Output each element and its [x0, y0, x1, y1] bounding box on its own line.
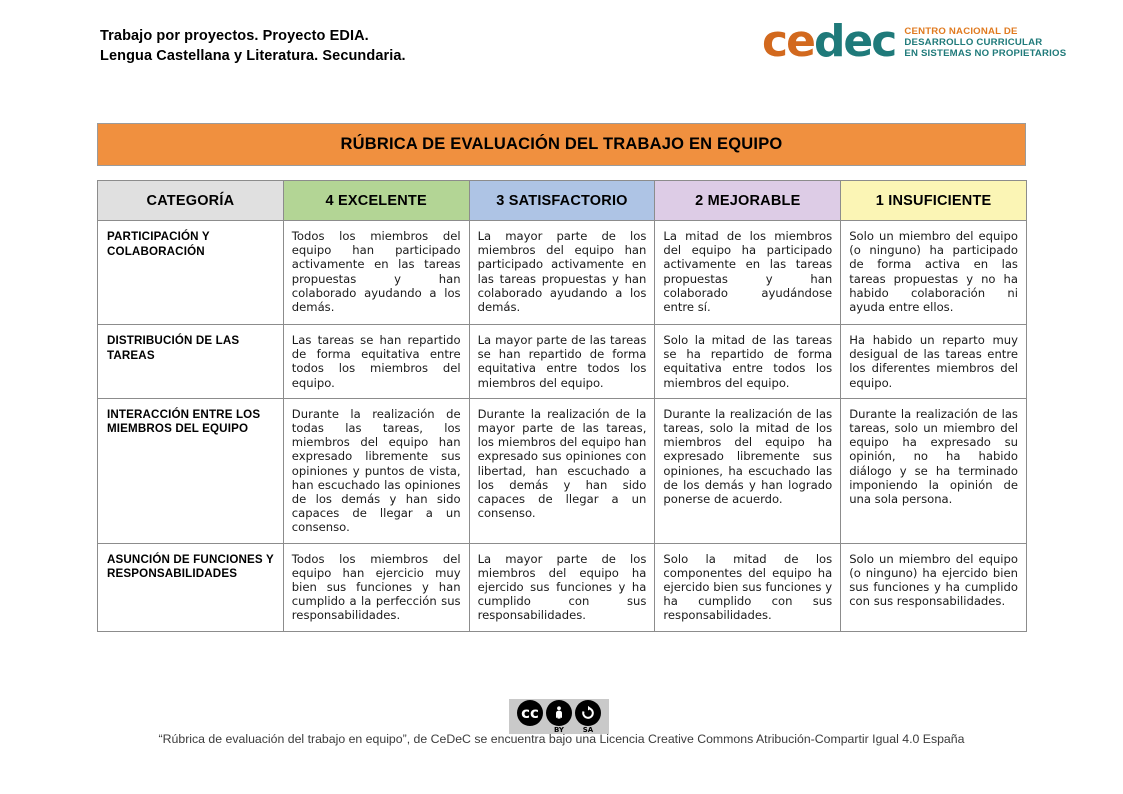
- descriptor-level-2: Solo la mitad de las tareas se ha repart…: [655, 325, 841, 399]
- cedec-logo-dec: dec: [814, 16, 895, 67]
- criterion-label: INTERACCIÓN ENTRE LOS MIEMBROS DEL EQUIP…: [98, 398, 284, 543]
- column-header-categoria: CATEGORÍA: [98, 181, 284, 221]
- cedec-logo-tagline: CENTRO NACIONAL DE DESARROLLO CURRICULAR…: [904, 26, 1066, 60]
- page-header: Trabajo por proyectos. Proyecto EDIA. Le…: [0, 0, 1123, 100]
- share-alike-arrow-icon: [575, 700, 601, 726]
- license-text: “Rúbrica de evaluación del trabajo en eq…: [0, 732, 1123, 746]
- column-header-mejorable: 2 MEJORABLE: [655, 181, 841, 221]
- criterion-label: PARTICIPACIÓN Y COLABORACIÓN: [98, 221, 284, 325]
- table-row: DISTRIBUCIÓN DE LAS TAREAS Las tareas se…: [98, 325, 1027, 399]
- descriptor-level-2: Solo la mitad de los componentes del equ…: [655, 543, 841, 631]
- subject-line-1: Trabajo por proyectos. Proyecto EDIA.: [100, 26, 406, 46]
- creative-commons-badge: cc BY SA: [509, 699, 609, 734]
- tagline-line-3: EN SISTEMAS NO PROPIETARIOS: [904, 48, 1066, 59]
- table-row: PARTICIPACIÓN Y COLABORACIÓN Todos los m…: [98, 221, 1027, 325]
- descriptor-level-4: Todos los miembros del equipo han partic…: [283, 221, 469, 325]
- descriptor-level-4: Durante la realización de todas las tare…: [283, 398, 469, 543]
- table-row: INTERACCIÓN ENTRE LOS MIEMBROS DEL EQUIP…: [98, 398, 1027, 543]
- criterion-label: ASUNCIÓN DE FUNCIONES Y RESPONSABILIDADE…: [98, 543, 284, 631]
- descriptor-level-2: Durante la realización de las tareas, so…: [655, 398, 841, 543]
- rubric-title: RÚBRICA DE EVALUACIÓN DEL TRABAJO EN EQU…: [341, 135, 783, 154]
- cedec-logo-wordmark: cedec: [762, 22, 895, 62]
- descriptor-level-1: Ha habido un reparto muy desigual de las…: [841, 325, 1027, 399]
- column-header-satisfactorio: 3 SATISFACTORIO: [469, 181, 655, 221]
- descriptor-level-1: Durante la realización de las tareas, so…: [841, 398, 1027, 543]
- descriptor-level-1: Solo un miembro del equipo (o ninguno) h…: [841, 543, 1027, 631]
- tagline-line-1: CENTRO NACIONAL DE: [904, 26, 1066, 37]
- tagline-line-2: DESARROLLO CURRICULAR: [904, 37, 1066, 48]
- rubric-title-banner: RÚBRICA DE EVALUACIÓN DEL TRABAJO EN EQU…: [97, 123, 1026, 166]
- descriptor-level-4: Todos los miembros del equipo han ejerci…: [283, 543, 469, 631]
- cedec-logo-ce: ce: [762, 16, 814, 67]
- attribution-person-icon: [546, 700, 572, 726]
- descriptor-level-3: La mayor parte de las tareas se han repa…: [469, 325, 655, 399]
- descriptor-level-4: Las tareas se han repartido de forma equ…: [283, 325, 469, 399]
- cc-icon: cc: [517, 700, 543, 726]
- subject-line-2: Lengua Castellana y Literatura. Secundar…: [100, 46, 406, 66]
- table-row: ASUNCIÓN DE FUNCIONES Y RESPONSABILIDADE…: [98, 543, 1027, 631]
- table-header-row: CATEGORÍA 4 EXCELENTE 3 SATISFACTORIO 2 …: [98, 181, 1027, 221]
- descriptor-level-3: Durante la realización de la mayor parte…: [469, 398, 655, 543]
- descriptor-level-2: La mitad de los miembros del equipo ha p…: [655, 221, 841, 325]
- document-subject: Trabajo por proyectos. Proyecto EDIA. Le…: [100, 26, 406, 66]
- rubric-table: CATEGORÍA 4 EXCELENTE 3 SATISFACTORIO 2 …: [97, 180, 1027, 632]
- descriptor-level-3: La mayor parte de los miembros del equip…: [469, 221, 655, 325]
- descriptor-level-1: Solo un miembro del equipo (o ninguno) h…: [841, 221, 1027, 325]
- cedec-logo: cedec CENTRO NACIONAL DE DESARROLLO CURR…: [762, 22, 1066, 62]
- criterion-label: DISTRIBUCIÓN DE LAS TAREAS: [98, 325, 284, 399]
- column-header-excelente: 4 EXCELENTE: [283, 181, 469, 221]
- descriptor-level-3: La mayor parte de los miembros del equip…: [469, 543, 655, 631]
- column-header-insuficiente: 1 INSUFICIENTE: [841, 181, 1027, 221]
